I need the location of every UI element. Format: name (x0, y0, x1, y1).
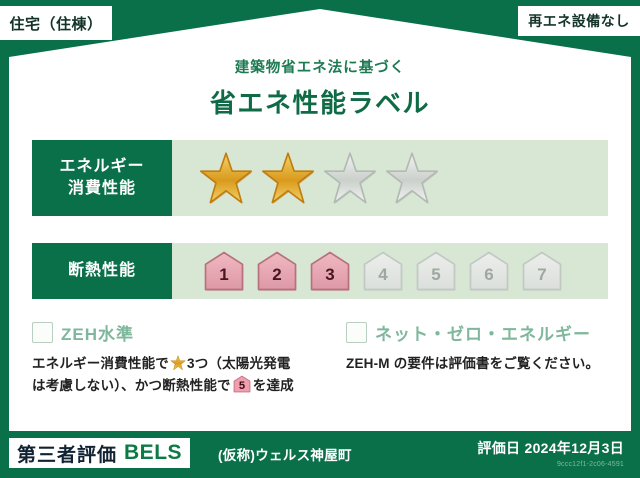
criteria-notes: ZEH水準 エネルギー消費性能で3つ（太陽光発電 は考慮しない）、かつ断熱性能で… (32, 320, 608, 397)
star-empty-icon (384, 151, 440, 205)
star-empty-icon (322, 151, 378, 205)
insulation-level-inactive: 4 (359, 250, 407, 292)
energy-performance-row: エネルギー 消費性能 (32, 140, 608, 216)
star-filled-icon (198, 151, 254, 205)
insulation-level-scale: 1234567 (172, 243, 608, 299)
zeh-body-part2: 3つ（太陽光発電 (187, 356, 291, 371)
renewable-equipment-tag: 再エネ設備なし (518, 6, 640, 36)
star-rating (172, 140, 608, 216)
serial-number: 9ccc12f1-2c06-4591 (477, 461, 624, 468)
insulation-level-number: 2 (272, 265, 281, 292)
insulation-level-number: 6 (484, 265, 493, 292)
third-party-label: 第三者評価 (17, 440, 117, 467)
evaluation-date-block: 評価日 2024年12月3日 9ccc12f1-2c06-4591 (477, 438, 624, 468)
star-filled-icon (260, 151, 316, 205)
insulation-level-inactive: 6 (465, 250, 513, 292)
building-type-tag: 住宅（住棟） (0, 6, 112, 40)
star-icon (170, 355, 186, 371)
zeh-body-part4: を達成 (253, 378, 294, 393)
main-title: 省エネ性能ラベル (0, 83, 640, 120)
netzero-note-header: ネット・ゼロ・エネルギー (346, 320, 608, 345)
evaluation-date: 評価日 2024年12月3日 (477, 438, 624, 458)
energy-label-line1: エネルギー (59, 156, 144, 178)
insulation-label-text: 断熱性能 (68, 260, 136, 282)
insulation-level-number: 5 (431, 265, 440, 292)
subtitle: 建築物省エネ法に基づく (0, 56, 640, 77)
insulation-level-number: 3 (325, 265, 334, 292)
renewable-equipment-label: 再エネ設備なし (528, 11, 630, 31)
insulation-level-number: 4 (378, 265, 387, 292)
building-name: (仮称)ウェルス神屋町 (218, 444, 352, 464)
insulation-level-active: 2 (253, 250, 301, 292)
zeh-note: ZEH水準 エネルギー消費性能で3つ（太陽光発電 は考慮しない）、かつ断熱性能で… (32, 320, 294, 397)
building-type-label: 住宅（住棟） (9, 13, 102, 34)
netzero-note-body: ZEH-M の要件は評価書をご覧ください。 (346, 354, 608, 375)
insulation-performance-row: 断熱性能 1234567 (32, 243, 608, 299)
zeh-note-body: エネルギー消費性能で3つ（太陽光発電 は考慮しない）、かつ断熱性能で5を達成 (32, 354, 294, 397)
zeh-note-header: ZEH水準 (32, 320, 294, 345)
insulation-level-number: 1 (219, 265, 228, 292)
zeh-body-part1: エネルギー消費性能で (32, 356, 169, 371)
bels-label: BELS (124, 441, 182, 465)
insulation-level-number: 7 (537, 265, 546, 292)
netzero-note-title: ネット・ゼロ・エネルギー (375, 320, 591, 345)
energy-performance-label: エネルギー 消費性能 (32, 140, 172, 216)
check-icon (32, 322, 53, 343)
insulation-level-active: 3 (306, 250, 354, 292)
insulation-level-active: 1 (200, 250, 248, 292)
insulation-performance-label: 断熱性能 (32, 243, 172, 299)
insulation-level-inactive: 5 (412, 250, 460, 292)
energy-label-line2: 消費性能 (68, 178, 136, 200)
bels-badge: 第三者評価 BELS (9, 438, 190, 468)
check-icon (346, 322, 367, 343)
page-title: 建築物省エネ法に基づく 省エネ性能ラベル (0, 56, 640, 120)
zeh-note-title: ZEH水準 (61, 320, 134, 345)
netzero-note: ネット・ゼロ・エネルギー ZEH-M の要件は評価書をご覧ください。 (294, 320, 608, 397)
zeh-body-part3: は考慮しない）、かつ断熱性能で (32, 378, 231, 393)
insulation-badge-icon: 5 (233, 375, 251, 391)
svg-text:5: 5 (239, 380, 245, 392)
insulation-level-inactive: 7 (518, 250, 566, 292)
